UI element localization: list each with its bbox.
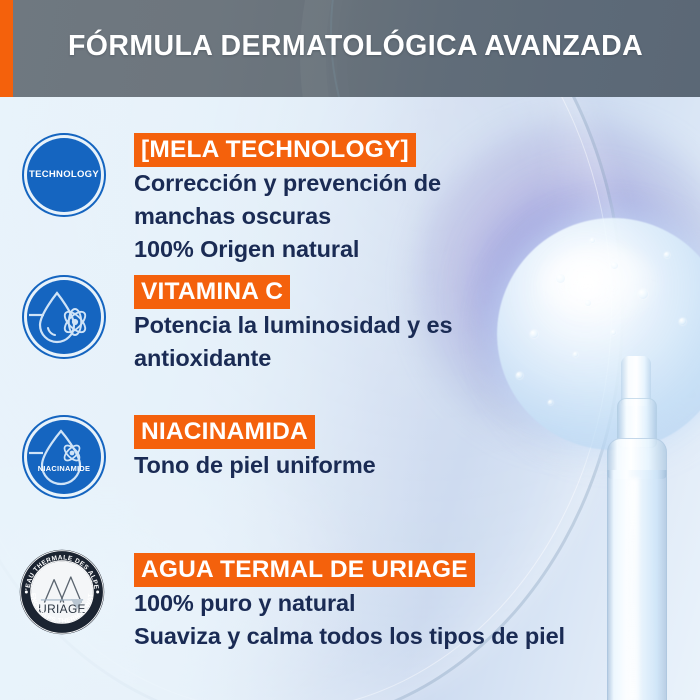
feature-text-technology: [MELA TECHNOLOGY] Corrección y prevenció…	[134, 133, 441, 266]
niacinamide-droplet-icon: NIACINAMIDE	[22, 415, 106, 499]
feature-icon-vitamin-c	[20, 275, 108, 359]
feature-text-vitamin-c: VITAMINA C Potencia la luminosidad y es …	[134, 275, 452, 375]
feature-line: manchas oscuras	[134, 201, 441, 233]
feature-line: 100% Origen natural	[134, 234, 441, 266]
feature-heading: [MELA TECHNOLOGY]	[134, 133, 416, 167]
feature-line: 100% puro y natural	[134, 588, 565, 620]
feature-icon-uriage: URIAGE L'EAU THERMALE DES ALPES FRENCH A…	[18, 548, 106, 636]
feature-heading: NIACINAMIDA	[134, 415, 315, 449]
feature-text-niacinamide: NIACINAMIDA Tono de piel uniforme	[134, 415, 376, 482]
feature-line: Suaviza y calma todos los tipos de piel	[134, 621, 565, 653]
droplet-molecule-glyph	[27, 420, 101, 494]
technology-badge-label: TECHNOLOGY	[22, 169, 106, 180]
technology-badge-icon: TECHNOLOGY	[22, 133, 106, 217]
feature-line: Corrección y prevención de	[134, 168, 441, 200]
product-feature-poster: FÓRMULA DERMATOLÓGICA AVANZADA TECHNOLOG…	[0, 0, 700, 700]
feature-line: antioxidante	[134, 343, 452, 375]
feature-icon-technology: TECHNOLOGY	[20, 133, 108, 217]
page-title: FÓRMULA DERMATOLÓGICA AVANZADA	[68, 30, 643, 63]
feature-heading: VITAMINA C	[134, 275, 290, 309]
uriage-thermal-water-logo: URIAGE L'EAU THERMALE DES ALPES FRENCH A…	[18, 548, 106, 636]
vitamin-c-droplet-icon	[22, 275, 106, 359]
niacinamide-badge-label: NIACINAMIDE	[22, 464, 106, 473]
feature-icon-niacinamide: NIACINAMIDE	[20, 415, 108, 499]
feature-text-uriage: AGUA TERMAL DE URIAGE 100% puro y natura…	[134, 553, 565, 653]
droplet-molecule-glyph	[27, 280, 101, 354]
feature-line: Tono de piel uniforme	[134, 450, 376, 482]
uriage-logo-glyph: URIAGE L'EAU THERMALE DES ALPES FRENCH A…	[18, 548, 106, 636]
feature-line: Potencia la luminosidad y es	[134, 310, 452, 342]
orange-accent-bar	[0, 0, 13, 97]
feature-heading: AGUA TERMAL DE URIAGE	[134, 553, 475, 587]
feature-list: TECHNOLOGY [MELA TECHNOLOGY] Corrección …	[0, 97, 700, 700]
